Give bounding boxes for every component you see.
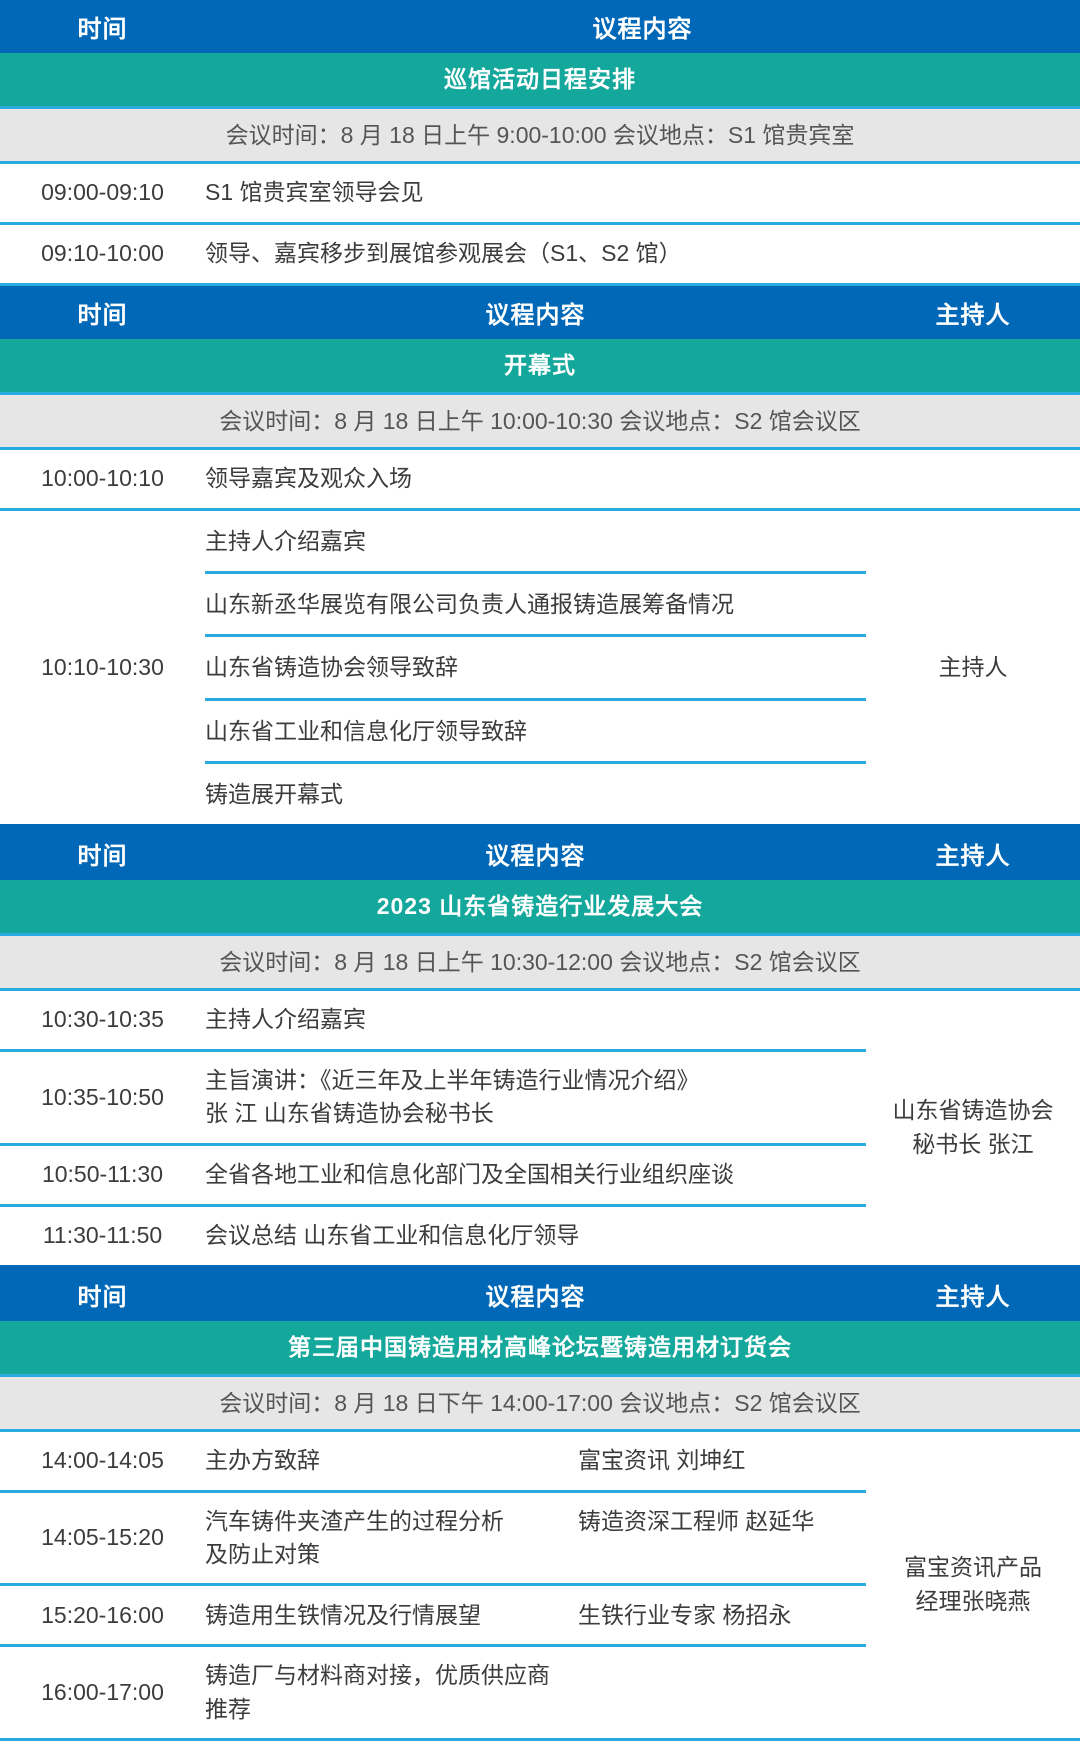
row-speaker: 富宝资讯 刘坤红 xyxy=(578,1444,866,1477)
row-time: 14:05-15:20 xyxy=(0,1511,205,1564)
row-content: 主旨演讲：《近三年及上半年铸造行业情况介绍》 张 江 山东省铸造协会秘书长 xyxy=(205,1052,866,1143)
sub-item-list: 主持人介绍嘉宾 山东新丞华展览有限公司负责人通报铸造展筹备情况 山东省铸造协会领… xyxy=(205,511,866,824)
column-header-time: 时间 xyxy=(0,9,205,44)
table-row: 16:00-17:00 铸造厂与材料商对接，优质供应商推荐 xyxy=(0,1647,866,1738)
row-speaker: 生铁行业专家 杨招永 xyxy=(578,1599,866,1632)
conference-schedule-table: 时间 议程内容 巡馆活动日程安排 会议时间：8 月 18 日上午 9:00-10… xyxy=(0,0,1080,1741)
list-item: 山东省工业和信息化厅领导致辞 xyxy=(205,701,866,764)
column-header-content: 议程内容 xyxy=(205,295,866,330)
row-content: 主办方致辞 富宝资讯 刘坤红 xyxy=(205,1432,866,1489)
column-header-row: 时间 议程内容 xyxy=(0,0,1080,53)
column-header-content: 议程内容 xyxy=(205,9,1080,44)
section-meta-info: 会议时间：8 月 18 日下午 14:00-17:00 会议地点：S2 馆会议区 xyxy=(0,1377,1080,1432)
section-meta-info: 会议时间：8 月 18 日上午 9:00-10:00 会议地点：S1 馆贵宾室 xyxy=(0,109,1080,164)
table-row: 10:30-10:35 主持人介绍嘉宾 xyxy=(0,991,866,1052)
section-industry-conference: 时间 议程内容 主持人 2023 山东省铸造行业发展大会 会议时间：8 月 18… xyxy=(0,827,1080,1268)
row-content: 主持人介绍嘉宾 xyxy=(205,991,866,1048)
row-speaker: 铸造资深工程师 赵延华 xyxy=(578,1505,866,1538)
row-topic: 铸造厂与材料商对接，优质供应商推荐 xyxy=(205,1659,578,1726)
table-row: 15:20-16:00 铸造用生铁情况及行情展望 生铁行业专家 杨招永 xyxy=(0,1586,866,1647)
table-row: 14:00-14:05 主办方致辞 富宝资讯 刘坤红 xyxy=(0,1432,866,1493)
row-content: S1 馆贵宾室领导会见 xyxy=(205,164,1080,221)
table-row: 11:30-11:50 会议总结 山东省工业和信息化厅领导 xyxy=(0,1207,866,1265)
rows-column: 14:00-14:05 主办方致辞 富宝资讯 刘坤红 14:05-15:20 汽… xyxy=(0,1432,866,1738)
section-materials-forum: 时间 议程内容 主持人 第三届中国铸造用材高峰论坛暨铸造用材订货会 会议时间：8… xyxy=(0,1268,1080,1741)
row-time: 09:10-10:00 xyxy=(0,227,205,280)
row-time: 09:00-09:10 xyxy=(0,166,205,219)
column-header-content: 议程内容 xyxy=(205,1277,866,1312)
row-content: 领导嘉宾及观众入场 xyxy=(205,450,866,507)
table-row: 09:00-09:10 S1 馆贵宾室领导会见 xyxy=(0,164,1080,225)
row-time: 11:30-11:50 xyxy=(0,1209,205,1262)
list-item: 铸造展开幕式 xyxy=(205,764,866,824)
section-meta-info: 会议时间：8 月 18 日上午 10:00-10:30 会议地点：S2 馆会议区 xyxy=(0,395,1080,450)
column-header-time: 时间 xyxy=(0,836,205,871)
section-meta-info: 会议时间：8 月 18 日上午 10:30-12:00 会议地点：S2 馆会议区 xyxy=(0,936,1080,991)
row-content: 汽车铸件夹渣产生的过程分析 及防止对策 铸造资深工程师 赵延华 xyxy=(205,1493,866,1584)
row-host-spanning: 富宝资讯产品 经理张晓燕 xyxy=(866,1432,1080,1738)
rows-column: 10:30-10:35 主持人介绍嘉宾 10:35-10:50 主旨演讲：《近三… xyxy=(0,991,866,1265)
row-time: 10:30-10:35 xyxy=(0,993,205,1046)
rows-with-spanning-host: 14:00-14:05 主办方致辞 富宝资讯 刘坤红 14:05-15:20 汽… xyxy=(0,1432,1080,1741)
list-item: 主持人介绍嘉宾 xyxy=(205,511,866,574)
table-row: 10:35-10:50 主旨演讲：《近三年及上半年铸造行业情况介绍》 张 江 山… xyxy=(0,1052,866,1146)
rows-with-spanning-host: 10:30-10:35 主持人介绍嘉宾 10:35-10:50 主旨演讲：《近三… xyxy=(0,991,1080,1268)
row-time: 10:10-10:30 xyxy=(0,511,205,824)
section-title: 第三届中国铸造用材高峰论坛暨铸造用材订货会 xyxy=(0,1321,1080,1377)
column-header-time: 时间 xyxy=(0,1277,205,1312)
column-header-content: 议程内容 xyxy=(205,836,866,871)
column-header-row: 时间 议程内容 主持人 xyxy=(0,286,1080,339)
column-header-host: 主持人 xyxy=(866,295,1080,330)
section-tour: 时间 议程内容 巡馆活动日程安排 会议时间：8 月 18 日上午 9:00-10… xyxy=(0,0,1080,286)
list-item: 山东省铸造协会领导致辞 xyxy=(205,637,866,700)
section-title: 巡馆活动日程安排 xyxy=(0,53,1080,109)
row-host-spanning: 山东省铸造协会 秘书长 张江 xyxy=(866,991,1080,1265)
row-time: 10:50-11:30 xyxy=(0,1148,205,1201)
row-host: 主持人 xyxy=(866,511,1080,824)
column-header-time: 时间 xyxy=(0,295,205,330)
row-content: 领导、嘉宾移步到展馆参观展会（S1、S2 馆） xyxy=(205,225,1080,282)
row-time: 10:35-10:50 xyxy=(0,1071,205,1124)
row-content: 铸造厂与材料商对接，优质供应商推荐 xyxy=(205,1647,866,1738)
section-title: 2023 山东省铸造行业发展大会 xyxy=(0,880,1080,936)
row-time: 15:20-16:00 xyxy=(0,1589,205,1642)
row-time: 14:00-14:05 xyxy=(0,1434,205,1487)
row-content: 铸造用生铁情况及行情展望 生铁行业专家 杨招永 xyxy=(205,1587,866,1644)
table-row: 10:00-10:10 领导嘉宾及观众入场 xyxy=(0,450,1080,511)
column-header-host: 主持人 xyxy=(866,1277,1080,1312)
row-content: 会议总结 山东省工业和信息化厅领导 xyxy=(205,1207,866,1264)
table-row-grouped: 10:10-10:30 主持人介绍嘉宾 山东新丞华展览有限公司负责人通报铸造展筹… xyxy=(0,511,1080,827)
row-content: 全省各地工业和信息化部门及全国相关行业组织座谈 xyxy=(205,1146,866,1203)
row-topic: 汽车铸件夹渣产生的过程分析 及防止对策 xyxy=(205,1505,578,1572)
list-item: 山东新丞华展览有限公司负责人通报铸造展筹备情况 xyxy=(205,574,866,637)
table-row: 14:05-15:20 汽车铸件夹渣产生的过程分析 及防止对策 铸造资深工程师 … xyxy=(0,1493,866,1587)
table-row: 10:50-11:30 全省各地工业和信息化部门及全国相关行业组织座谈 xyxy=(0,1146,866,1207)
row-topic: 铸造用生铁情况及行情展望 xyxy=(205,1599,578,1632)
table-row: 09:10-10:00 领导、嘉宾移步到展馆参观展会（S1、S2 馆） xyxy=(0,225,1080,286)
row-time: 10:00-10:10 xyxy=(0,452,205,505)
column-header-row: 时间 议程内容 主持人 xyxy=(0,1268,1080,1321)
column-header-row: 时间 议程内容 主持人 xyxy=(0,827,1080,880)
row-time: 16:00-17:00 xyxy=(0,1666,205,1719)
column-header-host: 主持人 xyxy=(866,836,1080,871)
row-topic: 主办方致辞 xyxy=(205,1444,578,1477)
section-title: 开幕式 xyxy=(0,339,1080,395)
row-host xyxy=(866,469,1080,489)
section-opening: 时间 议程内容 主持人 开幕式 会议时间：8 月 18 日上午 10:00-10… xyxy=(0,286,1080,827)
